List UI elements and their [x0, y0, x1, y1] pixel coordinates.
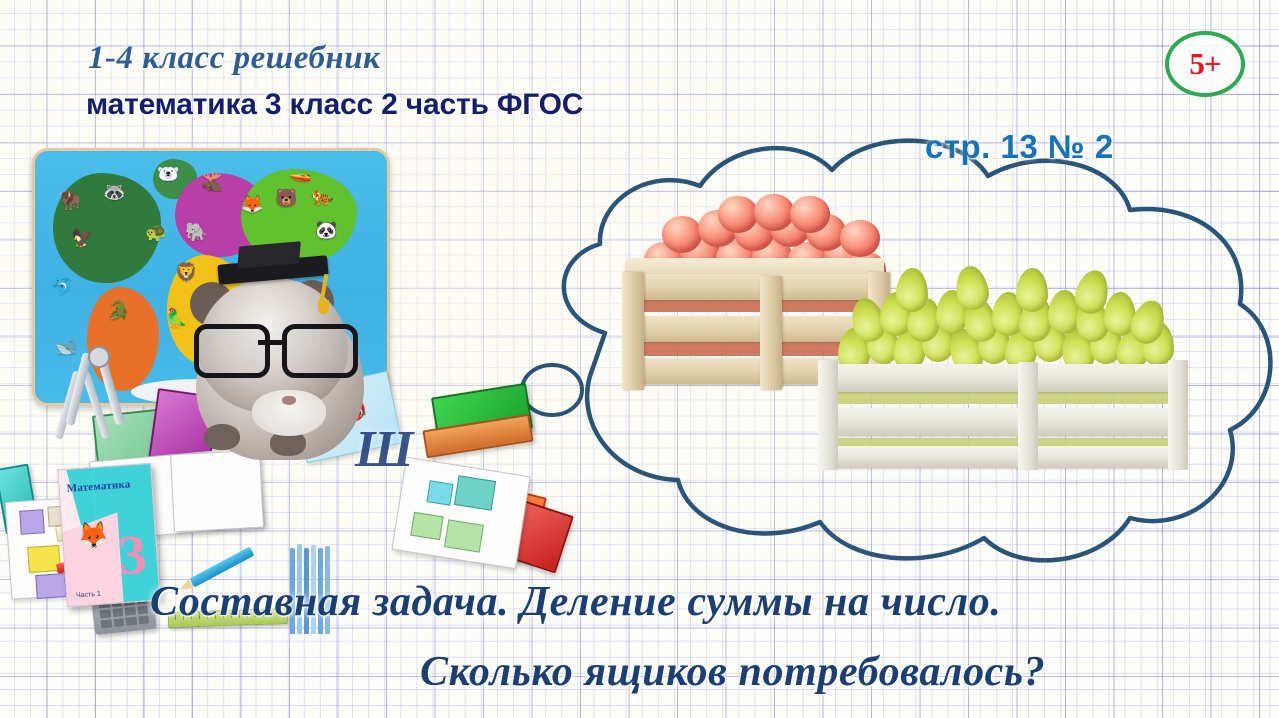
worksheet-swatch — [444, 519, 484, 552]
pear — [896, 268, 928, 312]
eyeglass-bridge — [258, 340, 286, 345]
cat-paw — [204, 424, 240, 450]
pear-pile — [836, 282, 1172, 370]
worksheet-swatch — [410, 512, 443, 540]
worksheet-swatch — [35, 573, 67, 599]
puzzle-animal: 🐻 — [275, 189, 297, 207]
pear-crate-box — [818, 360, 1188, 474]
worksheet-swatch — [27, 545, 61, 573]
eyeglasses-icon — [194, 324, 352, 370]
compass-upper — [48, 352, 158, 426]
puzzle-animal: 🐬 — [51, 277, 73, 295]
crate-corner-post — [760, 276, 782, 390]
crate-corner-post — [622, 272, 644, 390]
page-title-line-1: 1-4 класс решебник — [88, 40, 380, 77]
apple — [790, 196, 830, 233]
puzzle-animal: 🦬 — [59, 191, 81, 209]
worksheet-swatch — [19, 509, 45, 535]
crate-slat — [828, 446, 1172, 468]
crate-corner-post — [1168, 360, 1188, 470]
math-textbook-cover: Математика 🦊 3 Часть 1 — [57, 463, 160, 607]
age-rating-label: 5+ — [1189, 48, 1220, 79]
crate-gap — [828, 390, 1172, 404]
eyeglass-lens — [282, 324, 358, 378]
apple — [718, 196, 758, 233]
worksheet-swatch — [426, 480, 453, 505]
puzzle-animal: 🐅 — [311, 187, 333, 205]
cat-with-graduation-cap-and-glasses — [178, 248, 378, 463]
textbook-grade: 3 — [117, 527, 149, 585]
puzzle-animal: 🐊 — [107, 301, 129, 319]
crate-slat — [828, 364, 1172, 392]
puzzle-animal: 🐢 — [145, 223, 167, 241]
fox-illustration-icon: 🦊 — [76, 519, 110, 552]
compass-leg — [65, 352, 92, 426]
slide-canvas: 🦬 🦝 🐻‍❄️ 🫎 🦊 🐻 🐅 🐼 🦅 🦁 🐘 🦓 🐋 🐊 🐢 🐬 🚤 🦜 — [0, 0, 1279, 718]
crate-corner-post — [818, 360, 838, 470]
puzzle-animal: 🚤 — [289, 163, 311, 181]
watermark-letter: Ш — [355, 420, 414, 479]
compass-hinge — [88, 346, 110, 368]
puzzle-animal: 🦊 — [241, 195, 263, 213]
task-title-line-2: Сколько ящиков потребовалось? — [420, 648, 1045, 696]
apple — [662, 216, 702, 253]
pear — [1016, 268, 1048, 312]
crate-slat — [828, 408, 1172, 436]
puzzle-animal: 🐼 — [315, 221, 337, 239]
wooden-crate-with-pears — [818, 282, 1188, 474]
graduation-cap-tassel-end — [318, 300, 329, 314]
puzzle-animal: 🦝 — [103, 183, 125, 201]
page-reference: стр. 13 № 2 — [925, 128, 1114, 166]
puzzle-animal: 🐻‍❄️ — [157, 165, 179, 183]
apple — [840, 220, 880, 257]
age-rating-badge: 5+ — [1165, 31, 1245, 97]
task-title-line-1: Составная задача. Деление суммы на число… — [150, 578, 1002, 626]
page-title-line-2: математика 3 класс 2 часть ФГОС — [86, 88, 583, 122]
puzzle-animal: 🫎 — [201, 173, 223, 191]
eyeglass-lens — [194, 324, 270, 378]
puzzle-animal: 🦅 — [71, 229, 93, 247]
apple — [754, 194, 794, 231]
cat-nose — [282, 396, 296, 405]
crate-corner-post — [1018, 362, 1038, 470]
worksheet-swatch — [454, 475, 496, 511]
puzzle-animal: 🐘 — [185, 223, 207, 241]
